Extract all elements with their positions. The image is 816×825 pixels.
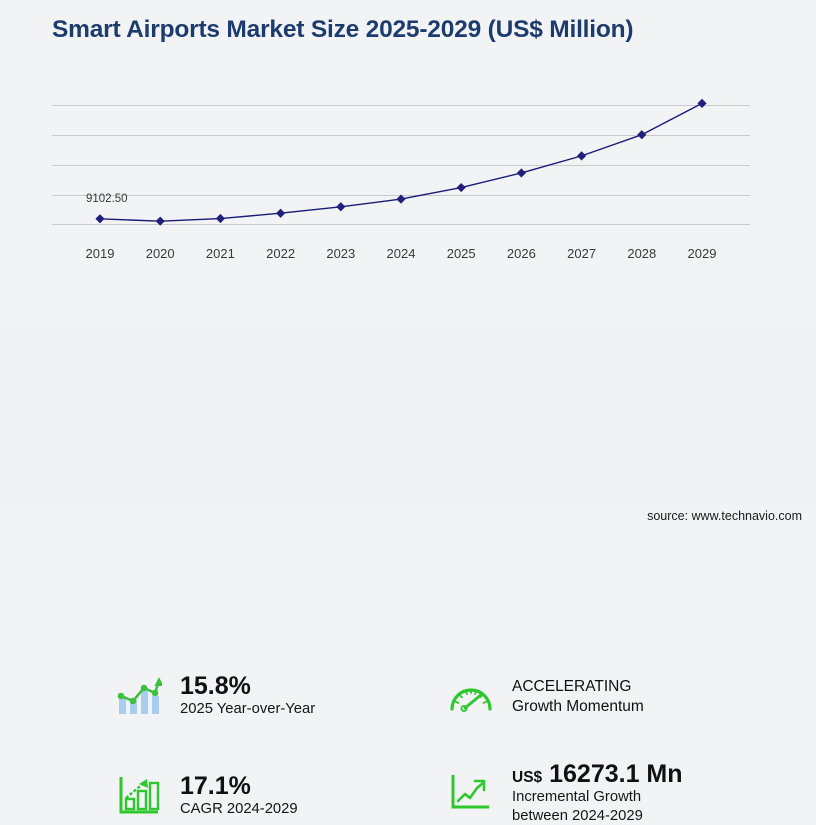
stat-text: US$ 16273.1 Mn Incremental Growth betwee… (512, 760, 683, 825)
stat-description: CAGR 2024-2029 (180, 800, 298, 819)
stat-value: 17.1% (180, 772, 298, 800)
stat-text: ACCELERATING Growth Momentum (512, 677, 644, 717)
data-label-2019: 9102.50 (86, 193, 128, 205)
source-attribution: source: www.technavio.com (647, 509, 802, 523)
data-point-2026 (517, 168, 526, 177)
data-point-2019 (95, 214, 104, 223)
stats-panel: 15.8% 2025 Year-over-Year (0, 328, 816, 504)
x-tick-2020: 2020 (146, 246, 175, 261)
x-tick-2019: 2019 (86, 246, 115, 261)
chart-series (52, 90, 750, 240)
page-title: Smart Airports Market Size 2025-2029 (US… (52, 16, 633, 44)
stat-year-over-year: 15.8% 2025 Year-over-Year (112, 670, 315, 720)
x-tick-2025: 2025 (447, 246, 476, 261)
data-point-2023 (336, 202, 345, 211)
data-point-2021 (216, 214, 225, 223)
trend-arrow-icon (444, 768, 498, 818)
stat-description-line1: Incremental Growth (512, 788, 683, 807)
plot-area: 9102.50 (52, 90, 750, 240)
speedometer-icon (444, 672, 498, 722)
data-point-2028 (637, 130, 646, 139)
stat-cagr: 17.1% CAGR 2024-2029 (112, 770, 298, 820)
stat-accelerating-label: ACCELERATING (512, 677, 644, 697)
x-tick-2027: 2027 (567, 246, 596, 261)
bar-line-growth-icon (112, 670, 166, 720)
stat-incremental-growth: US$ 16273.1 Mn Incremental Growth betwee… (444, 760, 683, 825)
stat-amount: 16273.1 Mn (549, 760, 682, 788)
data-point-2025 (457, 183, 466, 192)
x-tick-2026: 2026 (507, 246, 536, 261)
data-point-2027 (577, 151, 586, 160)
x-tick-2024: 2024 (387, 246, 416, 261)
stat-description-line2: between 2024-2029 (512, 807, 683, 825)
series-markers (95, 99, 706, 226)
data-point-2029 (697, 99, 706, 108)
stat-text: 15.8% 2025 Year-over-Year (180, 672, 315, 719)
x-tick-2021: 2021 (206, 246, 235, 261)
stat-momentum-label: Growth Momentum (512, 697, 644, 717)
stat-currency-unit: US$ (512, 769, 542, 786)
x-axis: 2019202020212022202320242025202620272028… (52, 242, 750, 270)
stat-growth-momentum: ACCELERATING Growth Momentum (444, 672, 644, 722)
x-tick-2028: 2028 (627, 246, 656, 261)
stat-value: US$ 16273.1 Mn (512, 760, 683, 788)
line-chart: 9102.50 20192020202120222023202420252026… (0, 90, 816, 285)
x-tick-2023: 2023 (326, 246, 355, 261)
stat-description: 2025 Year-over-Year (180, 700, 315, 719)
x-tick-2029: 2029 (688, 246, 717, 261)
stat-value: 15.8% (180, 672, 315, 700)
x-tick-2022: 2022 (266, 246, 295, 261)
infographic-page: Smart Airports Market Size 2025-2029 (US… (0, 0, 816, 528)
stat-text: 17.1% CAGR 2024-2029 (180, 772, 298, 819)
bar-chart-arrow-icon (112, 770, 166, 820)
data-point-2022 (276, 209, 285, 218)
data-point-2020 (156, 217, 165, 226)
data-point-2024 (396, 195, 405, 204)
